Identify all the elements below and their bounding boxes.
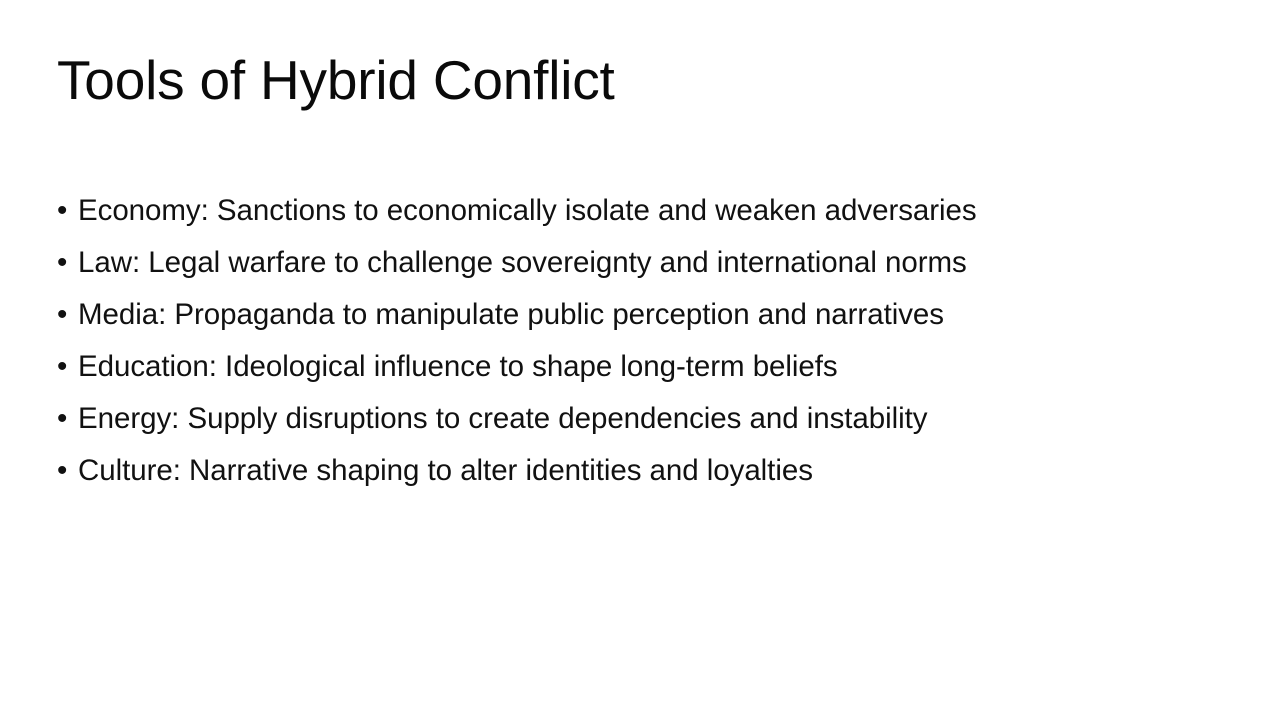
list-item: • Law: Legal warfare to challenge sovere… (57, 237, 1227, 289)
bullet-point-icon: • (57, 185, 78, 237)
slide-canvas: Tools of Hybrid Conflict • Economy: Sanc… (0, 0, 1280, 720)
bullet-point-icon: • (57, 341, 78, 393)
bullet-list: • Economy: Sanctions to economically iso… (57, 185, 1227, 497)
list-item-label: Education: Ideological influence to shap… (78, 341, 838, 393)
list-item-label: Media: Propaganda to manipulate public p… (78, 289, 944, 341)
bullet-point-icon: • (57, 393, 78, 445)
list-item-label: Law: Legal warfare to challenge sovereig… (78, 237, 967, 289)
list-item-label: Economy: Sanctions to economically isola… (78, 185, 977, 237)
bullet-point-icon: • (57, 237, 78, 289)
list-item: • Education: Ideological influence to sh… (57, 341, 1227, 393)
list-item-label: Energy: Supply disruptions to create dep… (78, 393, 928, 445)
list-item: • Economy: Sanctions to economically iso… (57, 185, 1227, 237)
list-item-label: Culture: Narrative shaping to alter iden… (78, 445, 813, 497)
bullet-point-icon: • (57, 289, 78, 341)
page-title: Tools of Hybrid Conflict (57, 47, 1223, 113)
list-item: • Media: Propaganda to manipulate public… (57, 289, 1227, 341)
bullet-point-icon: • (57, 445, 78, 497)
list-item: • Energy: Supply disruptions to create d… (57, 393, 1227, 445)
list-item: • Culture: Narrative shaping to alter id… (57, 445, 1227, 497)
